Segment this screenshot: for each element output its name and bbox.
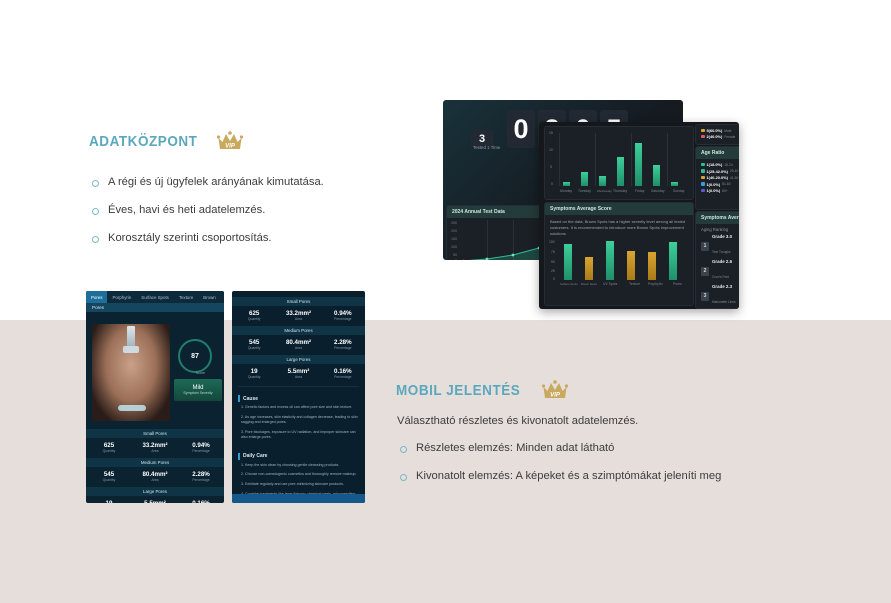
metric-key: Area: [132, 478, 178, 482]
group-header: Small Pores: [86, 429, 224, 438]
list-item: Korosztály szerinti csoportosítás.: [92, 231, 372, 246]
metric-cell: 5.5mm²Area: [132, 500, 178, 503]
metric-cell: 0.16%Percentage: [178, 500, 224, 503]
scanner-wand-icon: [127, 326, 135, 348]
divider: [238, 386, 359, 387]
metric-key: Percentage: [321, 375, 365, 379]
age-value: 1(0.0%): [707, 182, 721, 187]
bullet-text: Részletes elemzés: Minden adat látható: [416, 441, 614, 456]
list-item: A régi és új ügyfelek arányának kimutatá…: [92, 175, 372, 190]
x-tick: Friday: [635, 189, 644, 193]
metric-cell: 5.5mm²Area: [276, 368, 320, 379]
grade-name: Crow's Feet: [712, 275, 729, 279]
age-value: 1(0.0%): [707, 188, 721, 193]
grade-value: Grade 2.6: [712, 260, 732, 265]
metric-value: 2.28%: [178, 471, 224, 478]
metric-value: 80.4mm²: [132, 471, 178, 478]
age-label: 25-40: [730, 169, 738, 173]
bottom-tab-bar[interactable]: [232, 494, 365, 503]
age-row: 1(40-20.0%) 41-50: [701, 175, 739, 180]
tab-pores[interactable]: Pores: [86, 291, 107, 303]
y-tick: 0: [553, 277, 555, 281]
legend-swatch-icon: [701, 163, 705, 167]
datacenter-title: ADATKÖZPONT: [89, 133, 197, 150]
bullet-text: A régi és új ügyfelek arányának kimutatá…: [108, 175, 324, 190]
bar-texture: [627, 251, 635, 280]
bar-tuesday: [581, 172, 588, 186]
group-row: 545Quantity 80.4mm²Area 2.28%Percentage: [232, 335, 365, 355]
metric-cell: 33.2mm²Area: [132, 442, 178, 453]
age-ratio-title: Age Ratio: [696, 147, 739, 159]
metric-key: Quantity: [232, 375, 276, 379]
y-tick: 50: [551, 260, 555, 264]
svg-text:VIP: VIP: [550, 393, 561, 399]
phone-detailed-screenshot: Pores Porphyrin Surface Spots Texture Br…: [86, 291, 224, 503]
group-row: 545Quantity 80.4mm²Area 2.28%Percentage: [86, 467, 224, 487]
cause-heading: Cause: [232, 389, 365, 405]
chin-strap: [118, 405, 146, 411]
legend-label: Female: [724, 135, 735, 139]
metric-cell: 80.4mm²Area: [276, 339, 320, 350]
phone-summary-screenshot: Small Pores 625Quantity 33.2mm²Area 0.94…: [232, 291, 365, 503]
mobile-report-heading: MOBIL JELENTÉS VIP: [396, 380, 568, 400]
medal-icon: 3: [701, 292, 709, 301]
metric-cell: 625Quantity: [86, 442, 132, 453]
x-tick: Thursday: [613, 189, 627, 193]
metric-value: 0.94%: [178, 442, 224, 449]
x-tick: Texture: [629, 282, 640, 286]
bullet-dot-icon: [400, 474, 407, 481]
counter-small-caption: Tested 1 Time: [473, 145, 500, 150]
legend-item: 2(40.0%) Female: [701, 134, 735, 139]
legend-swatch-icon: [701, 129, 705, 133]
subheader-pores: Pores: [86, 303, 224, 312]
metric-value: 0.16%: [178, 500, 224, 503]
grade-subtitle: Aging Ranking: [696, 224, 739, 234]
legend-swatch-icon: [701, 169, 705, 173]
bullet-text: Éves, havi és heti adatelemzés.: [108, 203, 265, 218]
metric-cell: 33.2mm²Area: [276, 310, 320, 321]
symptom-tab-bar: Pores Porphyrin Surface Spots Texture Br…: [86, 291, 224, 303]
tab-surface-spots[interactable]: Surface Spots: [136, 295, 174, 300]
y-tick: 50: [453, 253, 457, 257]
dashboard-screenshot: 3 0 2 0 5 Tested 1 Time The n 2024 Annua…: [443, 100, 683, 260]
x-tick: UV Spots: [603, 282, 617, 286]
symptoms-average-score-panel: Symptoms Average Score Based on the data…: [544, 202, 694, 306]
bar-sunday: [671, 182, 678, 186]
mobile-report-lead: Választható részletes és kivonatolt adat…: [397, 415, 638, 427]
y-tick: 0: [455, 259, 457, 260]
group-header: Small Pores: [232, 297, 365, 306]
cause-line: 3. Pore blockages, exposure to UV radiat…: [232, 430, 365, 445]
sas-title: Symptoms Average Score: [545, 203, 693, 215]
x-tick: Brown Spots: [581, 282, 597, 286]
cause-line: 1. Genetic factors and excess oil can af…: [232, 405, 365, 415]
bar-brown-spots: [585, 257, 593, 280]
group-row: 19Quantity 5.5mm²Area 0.16%Percentage: [86, 496, 224, 503]
list-item: Kivonatolt elemzés: A képeket és a szimp…: [400, 469, 760, 484]
x-tick: Monday: [560, 189, 572, 193]
grade-top-row: 2 Grade 2.6 Crow's Feet: [696, 259, 739, 284]
age-row: 1(0.0%) 51-60: [701, 182, 739, 187]
medal-icon: 1: [701, 242, 709, 251]
face-photo: [92, 324, 170, 421]
bar-friday: [635, 143, 642, 186]
metric-cell: 80.4mm²Area: [132, 471, 178, 482]
mobile-report-bullet-list: Részletes elemzés: Minden adat látható K…: [400, 441, 760, 497]
gender-ratio-panel: 5(60.0%) Male 100.0% Head 2(40.0%) Femal…: [695, 124, 739, 145]
y-tick: 100: [451, 245, 457, 249]
severity-badge: Mild Symptom Severity: [174, 379, 222, 401]
age-row: 1(25-42.0%) 25-40: [701, 169, 739, 174]
bar-surface-spots: [564, 244, 572, 280]
metric-cell: 19Quantity: [86, 500, 132, 503]
metric-value: 19: [232, 368, 276, 375]
cause-line: 2. As age increases, skin elasticity and…: [232, 415, 365, 430]
legend-value: 5(60.0%): [707, 128, 723, 133]
group-row: 625Quantity 33.2mm²Area 0.94%Percentage: [232, 306, 365, 326]
y-tick: 15: [549, 131, 553, 135]
bar-wednesday: [599, 176, 606, 186]
grade-name: Marionette Lines: [712, 300, 736, 304]
legend-label: Male: [724, 129, 731, 133]
list-item: Éves, havi és heti adatelemzés.: [92, 203, 372, 218]
group-row: 19Quantity 5.5mm²Area 0.16%Percentage: [232, 364, 365, 384]
group-header: Medium Pores: [86, 458, 224, 467]
metric-value: 5.5mm²: [276, 368, 320, 375]
age-label: 41-50: [730, 176, 738, 180]
datacenter-bullet-list: A régi és új ügyfelek arányának kimutatá…: [92, 175, 372, 259]
metric-value: 80.4mm²: [276, 339, 320, 346]
grade-value: Grade 2.3: [712, 285, 736, 290]
metric-key: Area: [276, 317, 320, 321]
y-tick: 5: [550, 165, 552, 169]
score-caption: Score: [196, 371, 205, 375]
daily-care-line: 2. Choose non-comedogenic cosmetics and …: [232, 472, 365, 482]
metric-key: Quantity: [232, 317, 276, 321]
metric-value: 625: [86, 442, 132, 449]
score-value: 87: [191, 353, 199, 360]
group-header: Large Pores: [86, 487, 224, 496]
legend-item: 5(60.0%) Male: [701, 128, 731, 133]
metric-key: Percentage: [321, 317, 365, 321]
group-header: Medium Pores: [232, 326, 365, 335]
tab-brown[interactable]: Brown: [198, 295, 220, 300]
y-tick: 100: [549, 240, 555, 244]
mobile-report-title: MOBIL JELENTÉS: [396, 382, 520, 399]
age-row: 1(18.0%) 18-24: [701, 162, 739, 167]
metric-value: 545: [86, 471, 132, 478]
metric-key: Percentage: [178, 449, 224, 453]
group-header: Large Pores: [232, 355, 365, 364]
daily-care-heading-text: Daily Care: [243, 453, 267, 459]
bar-saturday: [653, 165, 660, 186]
metric-value: 5.5mm²: [132, 500, 178, 503]
metric-key: Area: [276, 346, 320, 350]
metric-cell: 0.94%Percentage: [321, 310, 365, 321]
severity-caption: Symptom Severity: [183, 391, 212, 395]
age-value: 1(40-20.0%): [707, 175, 728, 180]
weekly-bar-chart: 15 10 5 0 Monday Tuesday Wednesday Thurs…: [544, 126, 694, 200]
x-tick: Surface Spots: [560, 282, 578, 286]
bullet-dot-icon: [92, 236, 99, 243]
score-ring: 87: [178, 339, 212, 373]
metric-cell: 545Quantity: [232, 339, 276, 350]
metric-key: Quantity: [232, 346, 276, 350]
metric-value: 625: [232, 310, 276, 317]
metric-key: Percentage: [178, 478, 224, 482]
daily-care-line: 1. Keep the skin clean by choosing gentl…: [232, 463, 365, 473]
legend-swatch-icon: [701, 189, 705, 193]
age-row: 1(0.0%) 60+: [701, 188, 739, 193]
grade-top-row: 3 Grade 2.3 Marionette Lines: [696, 284, 739, 309]
bullet-text: Kivonatolt elemzés: A képeket és a szimp…: [416, 469, 721, 484]
metric-key: Area: [276, 375, 320, 379]
x-tick: Sunday: [673, 189, 685, 193]
age-ratio-panel: Age Ratio 1(18.0%) 18-24 1(25-42.0%) 25-…: [695, 146, 739, 210]
age-label: 18-24: [724, 163, 732, 167]
metric-value: 33.2mm²: [132, 442, 178, 449]
metric-key: Area: [132, 449, 178, 453]
tab-porphyrin[interactable]: Porphyrin: [107, 295, 136, 300]
metric-value: 33.2mm²: [276, 310, 320, 317]
metric-cell: 625Quantity: [232, 310, 276, 321]
x-tick: Tuesday: [578, 189, 591, 193]
bar-pores: [669, 242, 677, 280]
list-item: Részletes elemzés: Minden adat látható: [400, 441, 760, 456]
grade-top-row: 1 Grade 3.0 Tear Troughs: [696, 234, 739, 259]
age-value: 1(25-42.0%): [707, 169, 728, 174]
cause-heading-text: Cause: [243, 396, 258, 402]
group-row: 625Quantity 33.2mm²Area 0.94%Percentage: [86, 438, 224, 458]
medal-icon: 2: [701, 267, 709, 276]
dashboard-overlay-layer: 15 10 5 0 Monday Tuesday Wednesday Thurs…: [539, 122, 739, 309]
x-tick: Saturday: [651, 189, 665, 193]
metric-key: Quantity: [86, 449, 132, 453]
metric-value: 545: [232, 339, 276, 346]
bar-uv-spots: [606, 241, 614, 280]
metric-value: 19: [86, 500, 132, 503]
grade-value: Grade 3.0: [712, 235, 732, 240]
accent-bar-icon: [238, 395, 240, 402]
y-tick: 250: [451, 221, 457, 225]
legend-swatch-icon: [701, 135, 705, 139]
metric-cell: 2.28%Percentage: [178, 471, 224, 482]
bar-porphyrin: [648, 252, 656, 280]
legend-value: 2(40.0%): [707, 134, 723, 139]
daily-care-heading: Daily Care: [232, 445, 365, 463]
y-tick: 0: [551, 182, 553, 186]
metric-cell: 0.94%Percentage: [178, 442, 224, 453]
age-value: 1(18.0%): [707, 162, 723, 167]
datacenter-heading: ADATKÖZPONT VIP: [89, 131, 243, 151]
metric-key: Quantity: [86, 478, 132, 482]
tab-texture[interactable]: Texture: [174, 295, 198, 300]
bullet-dot-icon: [92, 180, 99, 187]
y-tick: 75: [551, 250, 555, 254]
bullet-dot-icon: [400, 446, 407, 453]
y-tick: 10: [549, 148, 553, 152]
metric-cell: 19Quantity: [232, 368, 276, 379]
grade-panel-title: Symptoms Average Grade: [696, 212, 739, 224]
daily-care-line: 3. Exfoliate regularly and use pore-mini…: [232, 482, 365, 492]
age-label: 51-60: [722, 182, 730, 186]
y-tick: 200: [451, 229, 457, 233]
vip-crown-icon: VIP: [542, 380, 568, 400]
legend-swatch-icon: [701, 176, 705, 180]
svg-text:VIP: VIP: [226, 144, 237, 150]
symptoms-average-grade-panel: Symptoms Average Grade Aging Ranking 1 G…: [695, 211, 739, 309]
legend-swatch-icon: [701, 182, 705, 186]
bullet-dot-icon: [92, 208, 99, 215]
sas-description: Based on the data, Brown Spots has a hig…: [545, 215, 693, 239]
bullet-text: Korosztály szerinti csoportosítás.: [108, 231, 272, 246]
grade-name: Tear Troughs: [712, 250, 731, 254]
x-tick: Pores: [673, 282, 682, 286]
metric-cell: 545Quantity: [86, 471, 132, 482]
metric-cell: 2.28%Percentage: [321, 339, 365, 350]
metric-value: 0.16%: [321, 368, 365, 375]
accent-bar-icon: [238, 453, 240, 460]
counter-digit: 0: [507, 110, 535, 148]
x-tick: Porphyrin: [648, 282, 663, 286]
bar-thursday: [617, 157, 624, 186]
vip-crown-icon: VIP: [217, 131, 243, 151]
metric-key: Percentage: [321, 346, 365, 350]
x-tick: Wednesday: [597, 189, 612, 193]
y-tick: 25: [551, 269, 555, 273]
y-tick: 150: [451, 237, 457, 241]
age-label: 60+: [722, 189, 728, 193]
metric-cell: 0.16%Percentage: [321, 368, 365, 379]
bar-monday: [563, 182, 570, 186]
metric-value: 0.94%: [321, 310, 365, 317]
metric-value: 2.28%: [321, 339, 365, 346]
